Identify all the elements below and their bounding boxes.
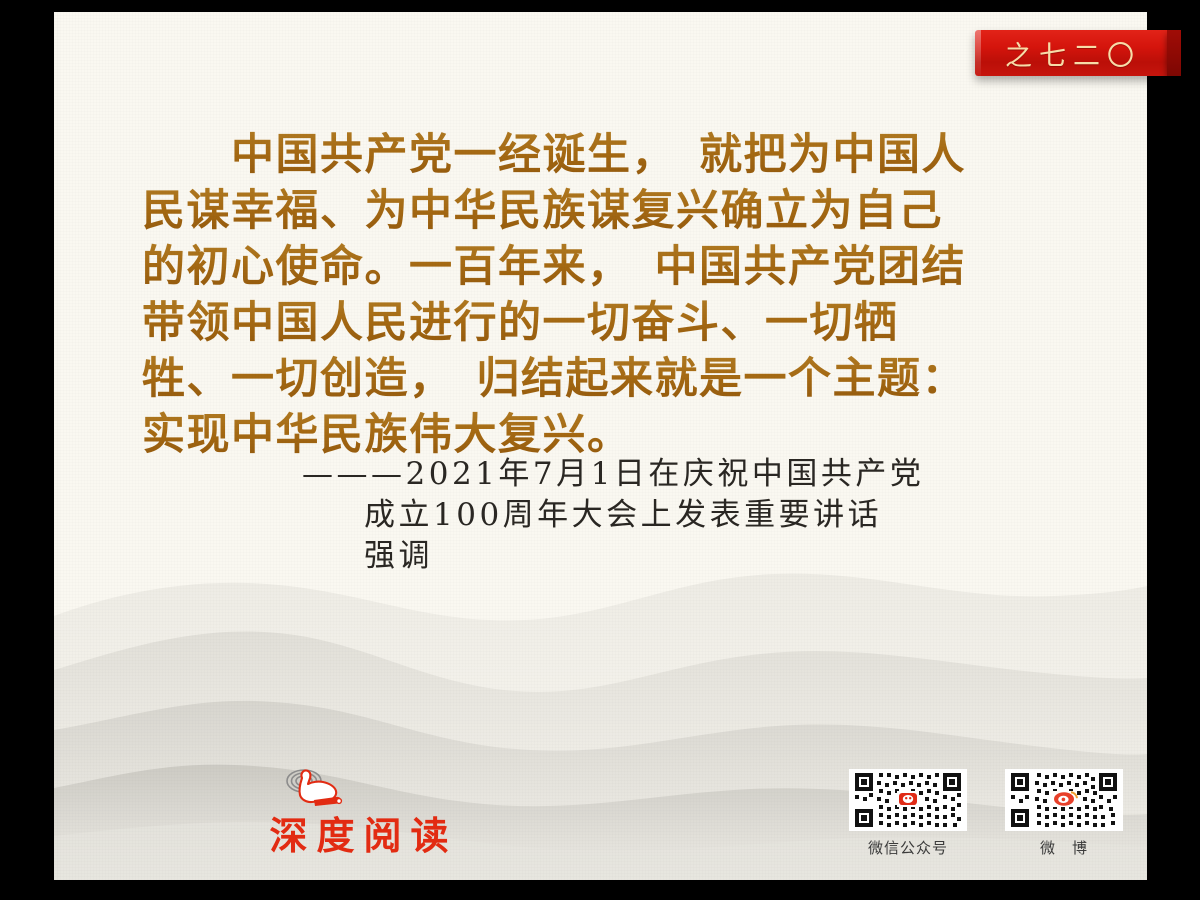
- qr-caption: 微 博: [1005, 837, 1123, 858]
- deep-reading-logo[interactable]: 深度阅读: [244, 764, 474, 858]
- weibo-qr-code[interactable]: [1005, 769, 1123, 831]
- qr-code-block: 微信公众号: [849, 769, 1123, 858]
- qr-caption: 微信公众号: [849, 837, 967, 858]
- quote-line: 带领中国人民进行的一切奋斗、一切牺: [142, 298, 1060, 348]
- tap-hand-icon: [278, 764, 352, 812]
- quote-line: 民谋幸福、为中华民族谋复兴确立为自己: [142, 186, 1060, 236]
- quote-line: 实现中华民族伟大复兴。: [142, 410, 1060, 460]
- poster-page: 中国共产党一经诞生， 就把为中国人 民谋幸福、为中华民族谋复兴确立为自己 的初心…: [54, 12, 1147, 880]
- issue-number-label: 之七二〇: [1005, 34, 1141, 73]
- quote-line: 的初心使命。一百年来， 中国共产党团结: [142, 242, 1060, 292]
- issue-ribbon-body: 之七二〇: [975, 30, 1167, 76]
- ribbon-fold: [1167, 30, 1181, 76]
- attribution-line: 成立100周年大会上发表重要讲话: [302, 495, 1122, 536]
- weibo-logo-icon: [1053, 791, 1077, 807]
- poster-canvas: 中国共产党一经诞生， 就把为中国人 民谋幸福、为中华民族谋复兴确立为自己 的初心…: [0, 0, 1200, 900]
- ribbon-highlight: [975, 30, 981, 76]
- quote-line: 牲、一切创造， 归结起来就是一个主题：: [142, 354, 1060, 404]
- quote-line: 中国共产党一经诞生， 就把为中国人: [142, 130, 1060, 180]
- attribution-block: ———2021年7月1日在庆祝中国共产党 成立100周年大会上发表重要讲话 强调: [302, 454, 1122, 577]
- issue-ribbon: 之七二〇: [975, 30, 1167, 76]
- quotation-block: 中国共产党一经诞生， 就把为中国人 民谋幸福、为中华民族谋复兴确立为自己 的初心…: [142, 130, 1060, 466]
- wechat-qr-code[interactable]: [849, 769, 967, 831]
- qr-item-wechat[interactable]: 微信公众号: [849, 769, 967, 858]
- attribution-line: ———2021年7月1日在庆祝中国共产党: [302, 454, 1122, 495]
- wechat-logo-icon: [897, 791, 919, 807]
- deep-reading-label: 深度阅读: [244, 814, 474, 858]
- qr-item-weibo[interactable]: 微 博: [1005, 769, 1123, 858]
- attribution-line: 强调: [302, 536, 1122, 577]
